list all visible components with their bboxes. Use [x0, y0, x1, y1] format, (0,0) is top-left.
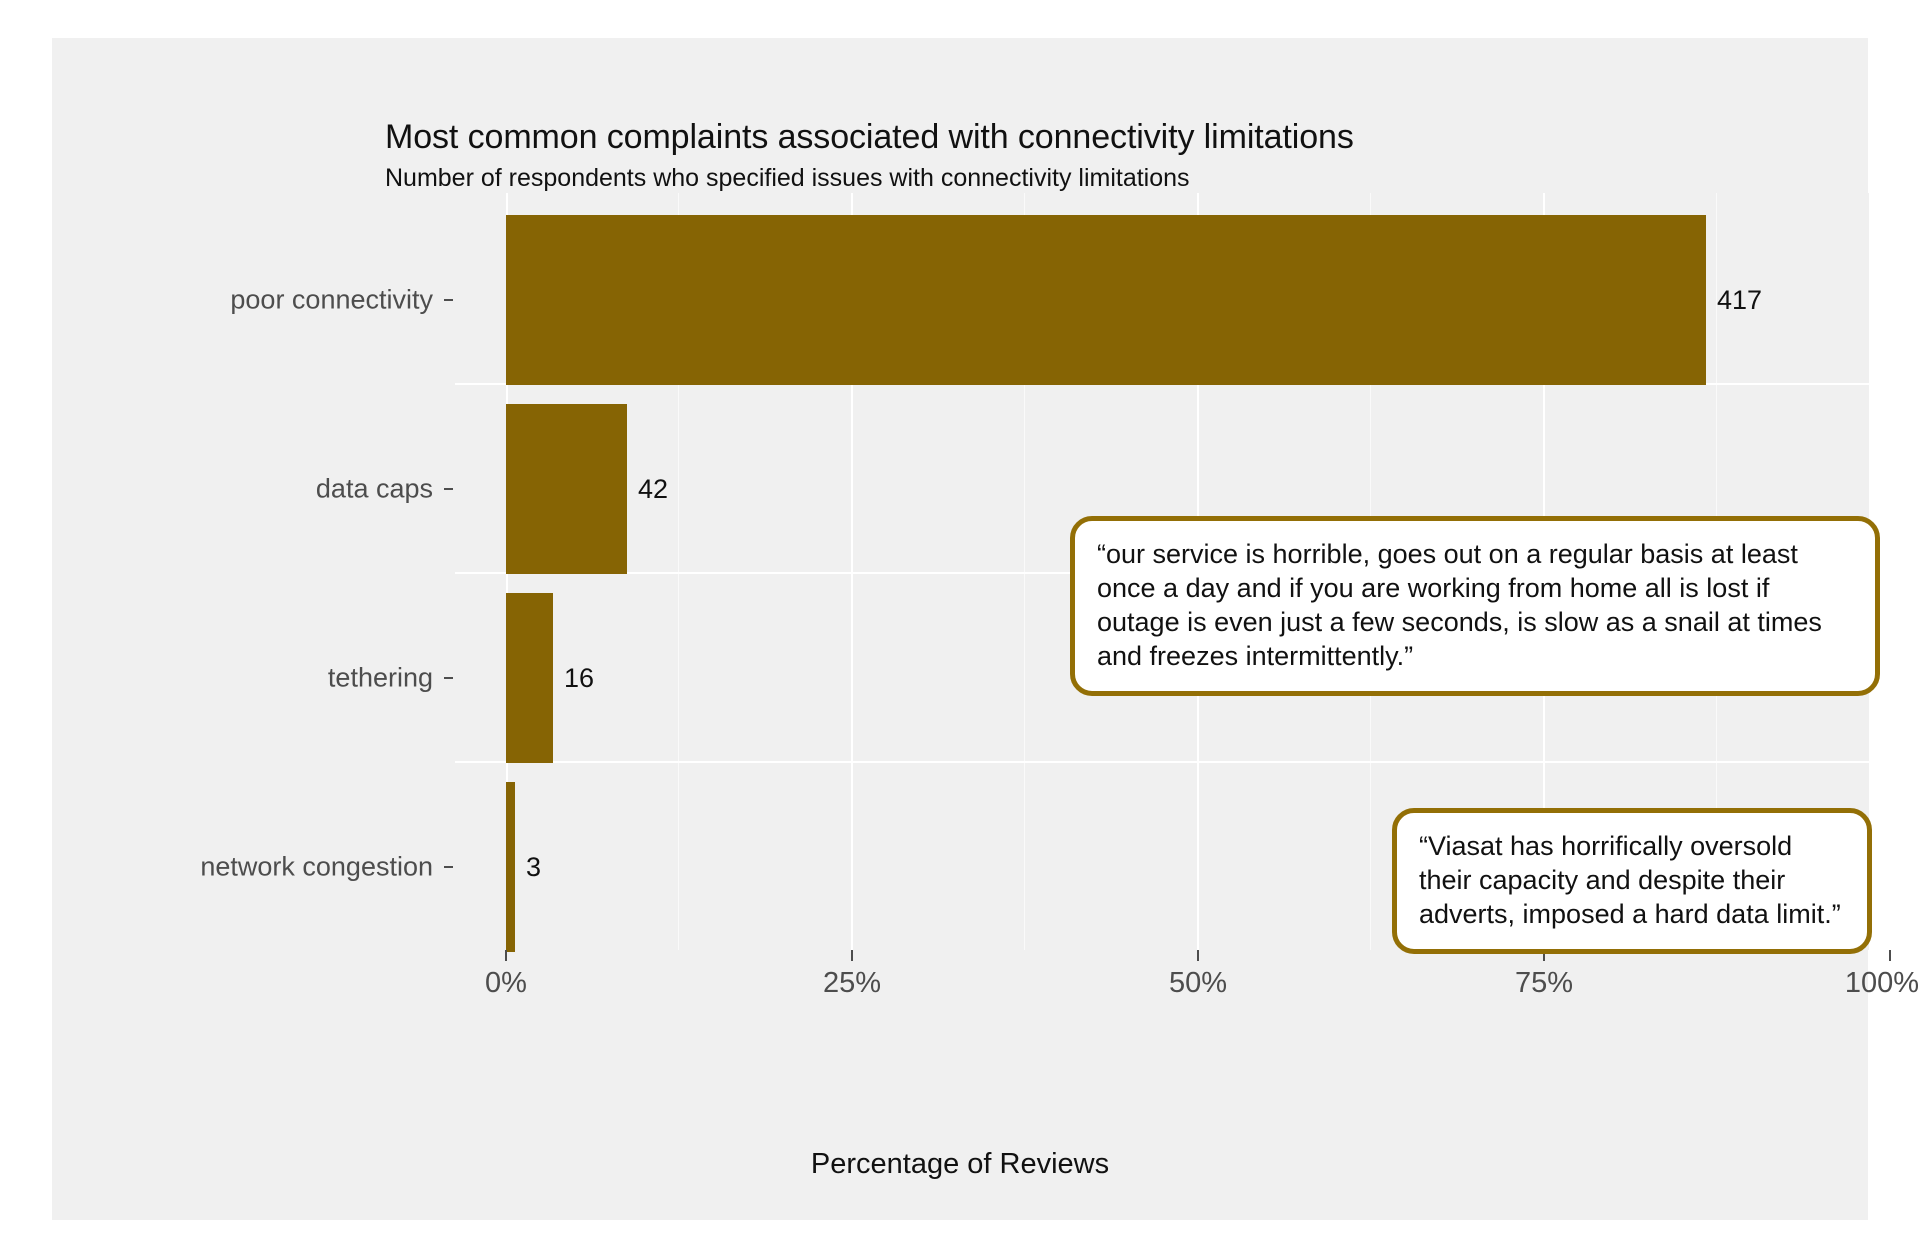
- bar-tethering[interactable]: [506, 593, 553, 763]
- bar-network-congestion[interactable]: [506, 782, 515, 952]
- ytick-label-network-congestion: network congestion: [52, 852, 433, 883]
- bar-value-data-caps: 42: [638, 476, 668, 503]
- chart-title: Most common complaints associated with c…: [385, 118, 1354, 157]
- xtick-label-25: 25%: [823, 967, 881, 1000]
- ytick-mark: [444, 488, 453, 490]
- ytick-mark: [444, 677, 453, 679]
- ytick-mark: [444, 866, 453, 868]
- bar-poor-connectivity[interactable]: [506, 215, 1706, 385]
- xtick-mark: [1197, 950, 1199, 961]
- x-axis-title: Percentage of Reviews: [52, 1148, 1868, 1181]
- ytick-label-tethering: tethering: [52, 663, 433, 694]
- bar-value-poor-connectivity: 417: [1717, 287, 1762, 314]
- ytick-label-data-caps: data caps: [52, 474, 433, 505]
- bar-data-caps[interactable]: [506, 404, 627, 574]
- bar-value-network-congestion: 3: [526, 854, 541, 881]
- xtick-label-75: 75%: [1515, 967, 1573, 1000]
- chart-figure: Most common complaints associated with c…: [52, 38, 1868, 1220]
- bar-value-tethering: 16: [564, 665, 594, 692]
- xtick-label-100: 100%: [1845, 967, 1919, 1000]
- xtick-mark: [505, 950, 507, 961]
- xtick-mark: [1889, 950, 1891, 961]
- xtick-label-50: 50%: [1169, 967, 1227, 1000]
- chart-subtitle: Number of respondents who specified issu…: [385, 164, 1190, 193]
- gridline-major-y: [455, 761, 1869, 763]
- annotation-quote-poor-connectivity: “our service is horrible, goes out on a …: [1070, 516, 1880, 696]
- ytick-mark: [444, 299, 453, 301]
- xtick-label-0: 0%: [485, 967, 527, 1000]
- ytick-label-poor-connectivity: poor connectivity: [52, 285, 433, 316]
- gridline-major-x: [1889, 193, 1891, 950]
- annotation-quote-data-caps: “Viasat has horrifically oversold their …: [1392, 808, 1872, 954]
- xtick-mark: [851, 950, 853, 961]
